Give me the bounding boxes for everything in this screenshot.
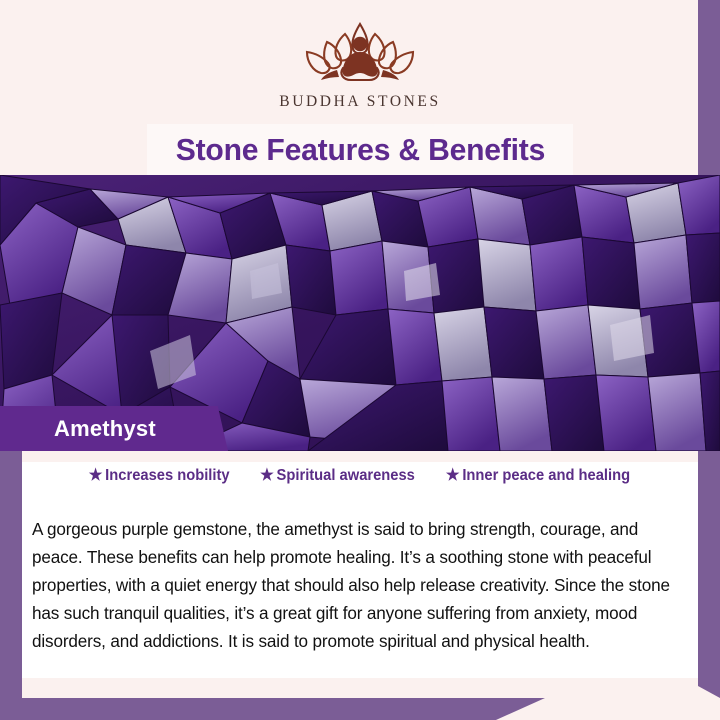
feature-item: ★ Spiritual awareness	[260, 467, 415, 485]
feature-label: Increases nobility	[106, 467, 230, 485]
feature-label: Spiritual awareness	[276, 467, 414, 485]
feature-item: ★ Inner peace and healing	[446, 467, 630, 485]
panel-top-tint	[22, 451, 698, 462]
lotus-meditation-icon	[275, 18, 445, 90]
poster-root: BUDDHA STONES Stone Features & Benefits	[0, 0, 720, 720]
frame-left-bar	[0, 448, 22, 702]
frame-right-tip	[698, 678, 720, 698]
feature-item: ★ Increases nobility	[89, 467, 230, 485]
stone-name-ribbon: Amethyst	[0, 406, 228, 451]
brand-logo: BUDDHA STONES	[22, 18, 698, 111]
star-icon: ★	[446, 468, 460, 484]
frame-bottom-bar	[0, 698, 545, 720]
content-panel: ★ Increases nobility ★ Spiritual awarene…	[22, 451, 698, 678]
feature-label: Inner peace and healing	[462, 467, 630, 485]
brand-name: BUDDHA STONES	[279, 93, 440, 111]
page-title-box: Stone Features & Benefits	[147, 124, 573, 175]
star-icon: ★	[89, 468, 103, 484]
page-title: Stone Features & Benefits	[175, 132, 544, 168]
feature-list: ★ Increases nobility ★ Spiritual awarene…	[22, 467, 698, 485]
star-icon: ★	[260, 468, 274, 484]
stone-description: A gorgeous purple gemstone, the amethyst…	[32, 515, 672, 655]
stone-name-label: Amethyst	[54, 416, 156, 442]
